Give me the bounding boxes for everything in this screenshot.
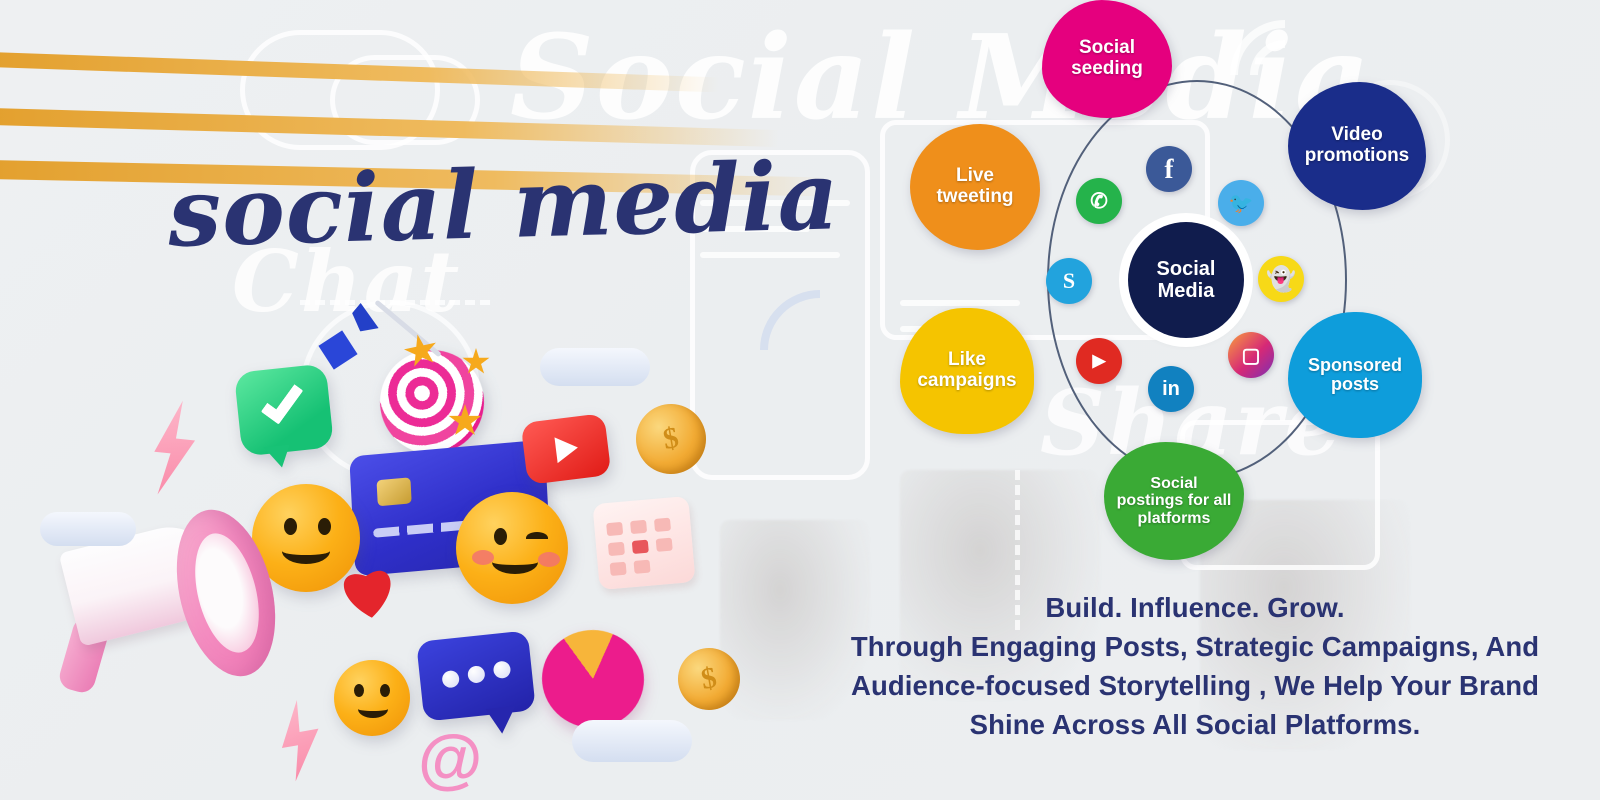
pie-chart-icon <box>537 625 649 733</box>
tagline-line-3: Audience-focused Storytelling , We Help … <box>800 666 1590 705</box>
twitter-icon[interactable]: 🐦 <box>1218 180 1264 226</box>
coin-icon-2: $ <box>630 398 711 479</box>
tagline-line-4: Shine Across All Social Platforms. <box>800 705 1590 744</box>
chat-bubble-icon <box>420 636 532 716</box>
page-title: social media <box>167 149 841 261</box>
petal-video-promotions[interactable]: Video promotions <box>1288 82 1426 210</box>
whatsapp-icon[interactable]: ✆ <box>1076 178 1122 224</box>
petal-label-line3: platforms <box>1117 510 1232 527</box>
youtube-play-icon <box>524 418 608 480</box>
petal-label-line1: Social <box>1071 38 1143 59</box>
check-bubble-icon <box>238 368 330 452</box>
decor-streak-1 <box>0 52 720 92</box>
petal-social-seeding[interactable]: Social seeding <box>1042 0 1172 118</box>
instagram-icon[interactable]: ▢ <box>1228 332 1274 378</box>
coin-icon: $ <box>673 643 745 715</box>
hub-label-line2: Media <box>1157 280 1216 302</box>
cloud-icon-3 <box>572 720 692 762</box>
youtube-icon[interactable]: ▶ <box>1076 338 1122 384</box>
linkedin-icon[interactable]: in <box>1148 366 1194 412</box>
cloud-icon-2 <box>540 348 650 386</box>
petal-label-line1: Like <box>917 350 1016 371</box>
at-symbol-icon: @ <box>418 720 482 796</box>
lightning-bolt-icon-1 <box>145 398 203 498</box>
tagline: Build. Influence. Grow. Through Engaging… <box>800 588 1590 744</box>
skype-icon[interactable]: S <box>1046 258 1092 304</box>
petal-label-line2: tweeting <box>936 187 1013 208</box>
infographic-hub[interactable]: Social Media <box>1128 222 1244 338</box>
petal-label-line2: promotions <box>1305 146 1410 167</box>
tagline-line-1: Build. Influence. Grow. <box>800 588 1590 627</box>
tagline-line-2: Through Engaging Posts, Strategic Campai… <box>800 627 1590 666</box>
petal-label-line1: Social <box>1117 475 1232 492</box>
cloud-icon-1 <box>40 512 136 546</box>
petal-social-postings[interactable]: Social postings for all platforms <box>1104 442 1244 560</box>
petal-label-line2: postings for all <box>1117 492 1232 509</box>
petal-label-line1: Live <box>936 166 1013 187</box>
petal-live-tweeting[interactable]: Live tweeting <box>910 124 1040 250</box>
petal-label-line2: seeding <box>1071 59 1143 80</box>
petal-label-line2: posts <box>1308 375 1402 394</box>
watermark-dashed-line-1 <box>300 300 490 305</box>
watermark-speech-bubble-outline-2 <box>330 55 480 145</box>
facebook-icon[interactable]: f <box>1146 146 1192 192</box>
snapchat-icon[interactable]: 👻 <box>1258 256 1304 302</box>
decor-streak-2 <box>0 108 780 147</box>
petal-sponsored-posts[interactable]: Sponsored posts <box>1288 312 1422 438</box>
winking-smiley-icon <box>456 492 568 604</box>
petal-label-line1: Sponsored <box>1308 356 1402 375</box>
diamond-icon <box>314 326 361 373</box>
social-media-banner: Social Media Chat Share social media <box>0 0 1600 800</box>
calendar-icon <box>592 496 695 590</box>
hub-label-line1: Social <box>1157 258 1216 280</box>
petal-like-campaigns[interactable]: Like campaigns <box>900 308 1034 434</box>
petal-label-line1: Video <box>1305 125 1410 146</box>
watermark-speech-bubble-outline <box>240 30 440 150</box>
social-media-infographic: Social seeding Video promotions Sponsore… <box>880 0 1440 580</box>
petal-label-line2: campaigns <box>917 371 1016 392</box>
